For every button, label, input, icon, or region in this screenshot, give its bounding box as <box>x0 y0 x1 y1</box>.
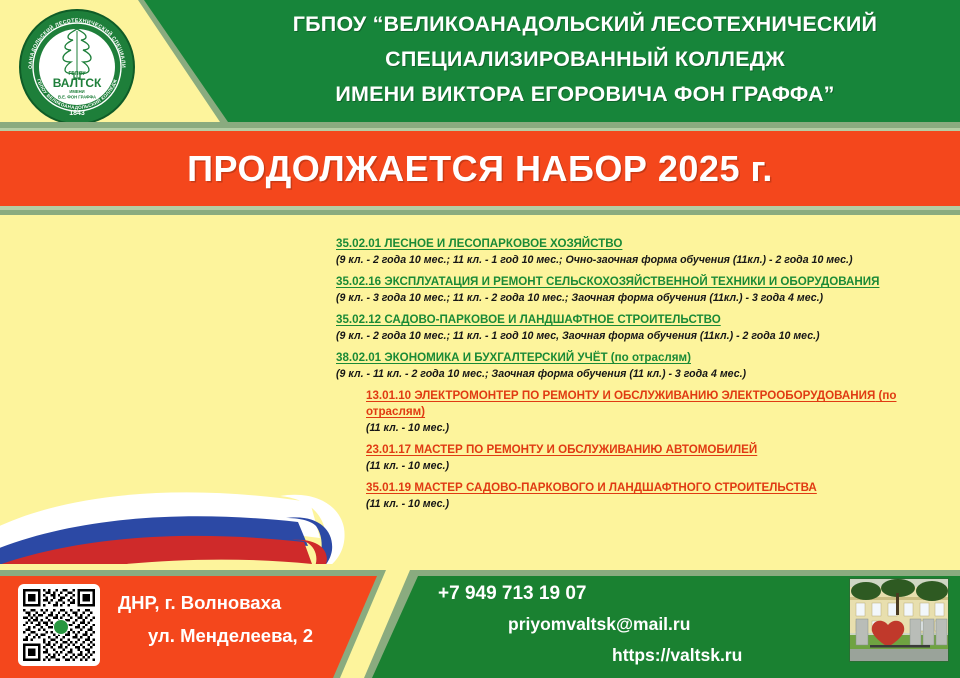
program-item[interactable]: 35.02.01 ЛЕСНОЕ И ЛЕСОПАРКОВОЕ ХОЗЯЙСТВО… <box>336 236 956 268</box>
program-item[interactable]: 35.02.16 ЭКСПЛУАТАЦИЯ И РЕМОНТ СЕЛЬСКОХО… <box>336 274 956 306</box>
program-code-text: 35.02.01 ЛЕСНОЕ И ЛЕСОПАРКОВОЕ ХОЗЯЙСТВО <box>336 237 622 250</box>
title-line-3: ИМЕНИ ВИКТОРА ЕГОРОВИЧА ФОН ГРАФФА” <box>215 77 955 112</box>
russian-flag-ribbon <box>0 478 348 564</box>
qr-center-logo-icon <box>53 619 69 635</box>
program-duration: (9 кл. - 2 года 10 мес.; 11 кл. - 1 год … <box>336 253 956 268</box>
program-duration: (9 кл. - 3 года 10 мес.; 11 кл. - 2 года… <box>336 291 956 306</box>
program-duration: (9 кл. - 2 года 10 мес.; 11 кл. - 1 год … <box>336 329 956 344</box>
program-item[interactable]: 23.01.17 МАСТЕР ПО РЕМОНТУ И ОБСЛУЖИВАНИ… <box>336 442 956 474</box>
program-code[interactable]: 23.01.17 МАСТЕР ПО РЕМОНТУ И ОБСЛУЖИВАНИ… <box>366 442 956 458</box>
svg-text:ИМЕНИ: ИМЕНИ <box>69 89 84 94</box>
program-code-text: 13.01.10 ЭЛЕКТРОМОНТЕР ПО РЕМОНТУ И ОБСЛ… <box>366 389 875 402</box>
admission-banner-text: ПРОДОЛЖАЕТСЯ НАБОР 2025 г. <box>0 131 960 206</box>
program-code[interactable]: 38.02.01 ЭКОНОМИКА И БУХГАЛТЕРСКИЙ УЧЁТ … <box>336 350 956 366</box>
college-logo: ГБПОУ ВЕЛИКОАНАДОЛЬСКИЙ ЛЕСОТЕХНИЧЕСКИЙ … <box>19 9 135 125</box>
program-code[interactable]: 35.01.19 МАСТЕР САДОВО-ПАРКОВОГО И ЛАНДШ… <box>366 480 956 496</box>
students-group-photo: ЭКО <box>0 296 348 564</box>
poster-root: ГБПОУ “ВЕЛИКОАНАДОЛЬСКИЙ ЛЕСОТЕХНИЧЕСКИЙ… <box>0 0 960 678</box>
program-item[interactable]: 13.01.10 ЭЛЕКТРОМОНТЕР ПО РЕМОНТУ И ОБСЛ… <box>336 388 956 436</box>
program-item[interactable]: 35.02.12 САДОВО-ПАРКОВОЕ И ЛАНДШАФТНОЕ С… <box>336 312 956 344</box>
address-block: ДНР, г. Волноваха ул. Менделеева, 2 <box>110 586 340 652</box>
phone-number[interactable]: +7 949 713 19 07 <box>430 578 830 609</box>
program-code-suffix: (по отраслям) <box>608 351 691 364</box>
program-code[interactable]: 35.02.12 САДОВО-ПАРКОВОЕ И ЛАНДШАФТНОЕ С… <box>336 312 956 328</box>
program-item[interactable]: 35.01.19 МАСТЕР САДОВО-ПАРКОВОГО И ЛАНДШ… <box>336 480 956 512</box>
title-line-1: ГБПОУ “ВЕЛИКОАНАДОЛЬСКИЙ ЛЕСОТЕХНИЧЕСКИЙ <box>215 7 955 42</box>
program-list: 35.02.01 ЛЕСНОЕ И ЛЕСОПАРКОВОЕ ХОЗЯЙСТВО… <box>336 236 956 518</box>
campus-illustration <box>850 579 948 661</box>
logo-year: 1843 <box>69 110 85 117</box>
footer: ДНР, г. Волноваха ул. Менделеева, 2 +7 9… <box>0 564 960 678</box>
address-line-2: ул. Менделеева, 2 <box>110 619 340 652</box>
contacts-block: +7 949 713 19 07 priyomvaltsk@mail.ru ht… <box>430 578 830 671</box>
header: ГБПОУ “ВЕЛИКОАНАДОЛЬСКИЙ ЛЕСОТЕХНИЧЕСКИЙ… <box>0 0 960 122</box>
program-duration: (11 кл. - 10 мес.) <box>366 421 956 436</box>
program-code-text: 38.02.01 ЭКОНОМИКА И БУХГАЛТЕРСКИЙ УЧЁТ <box>336 351 608 364</box>
svg-text:ВАЛТСК: ВАЛТСК <box>53 76 102 90</box>
program-code[interactable]: 35.02.16 ЭКСПЛУАТАЦИЯ И РЕМОНТ СЕЛЬСКОХО… <box>336 274 956 290</box>
qr-code[interactable] <box>18 584 100 666</box>
program-code[interactable]: 13.01.10 ЭЛЕКТРОМОНТЕР ПО РЕМОНТУ И ОБСЛ… <box>366 388 956 420</box>
campus-heart-photo <box>849 578 949 662</box>
logo-ring-text: ГБПОУ ВЕЛИКОАНАДОЛЬСКИЙ ЛЕСОТЕХНИЧЕСКИЙ … <box>21 11 133 123</box>
admission-banner: ПРОДОЛЖАЕТСЯ НАБОР 2025 г. <box>0 131 960 206</box>
program-code-text: 35.02.12 САДОВО-ПАРКОВОЕ И ЛАНДШАФТНОЕ С… <box>336 313 721 326</box>
svg-text:В.Е. ФОН ГРАФФА: В.Е. ФОН ГРАФФА <box>58 95 96 100</box>
page-title: ГБПОУ “ВЕЛИКОАНАДОЛЬСКИЙ ЛЕСОТЕХНИЧЕСКИЙ… <box>215 7 955 112</box>
title-line-2: СПЕЦИАЛИЗИРОВАННЫЙ КОЛЛЕДЖ <box>215 42 955 77</box>
program-duration: (9 кл. - 11 кл. - 2 года 10 мес.; Заочна… <box>336 367 956 382</box>
email-address[interactable]: priyomvaltsk@mail.ru <box>430 609 830 640</box>
program-duration: (11 кл. - 10 мес.) <box>366 497 956 512</box>
program-item[interactable]: 38.02.01 ЭКОНОМИКА И БУХГАЛТЕРСКИЙ УЧЁТ … <box>336 350 956 382</box>
program-code[interactable]: 35.02.01 ЛЕСНОЕ И ЛЕСОПАРКОВОЕ ХОЗЯЙСТВО <box>336 236 956 252</box>
program-code-text: 23.01.17 МАСТЕР ПО РЕМОНТУ И ОБСЛУЖИВАНИ… <box>366 443 757 456</box>
program-code-text: 35.01.19 МАСТЕР САДОВО-ПАРКОВОГО И ЛАНДШ… <box>366 481 817 494</box>
address-line-1: ДНР, г. Волноваха <box>110 586 340 619</box>
program-code-text: 35.02.16 ЭКСПЛУАТАЦИЯ И РЕМОНТ СЕЛЬСКОХО… <box>336 275 879 288</box>
website-url[interactable]: https://valtsk.ru <box>430 640 830 671</box>
banner-bottom-band-dark <box>0 210 960 215</box>
program-duration: (11 кл. - 10 мес.) <box>366 459 956 474</box>
